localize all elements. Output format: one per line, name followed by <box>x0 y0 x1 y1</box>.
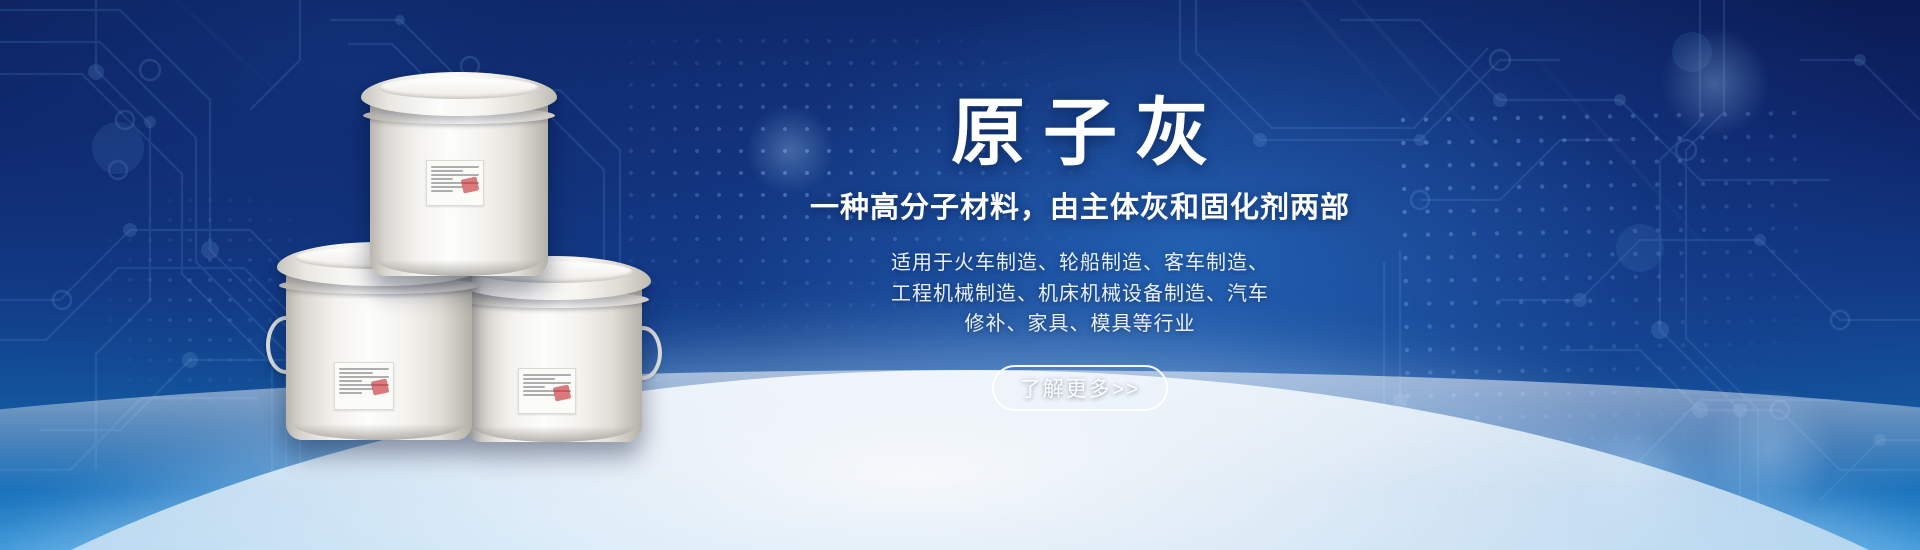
product-image-pails <box>250 60 670 460</box>
cta-container: 了解更多>> <box>700 365 1460 411</box>
light-streak <box>1492 9 1748 293</box>
description-line-3: 修补、家具、模具等行业 <box>700 309 1460 339</box>
glow-spot <box>1660 28 1770 138</box>
label-stamp <box>371 379 390 396</box>
product-label <box>334 362 394 410</box>
product-label <box>426 160 484 206</box>
pail-bottom-left <box>286 268 472 440</box>
banner-subheadline: 一种高分子材料，由主体灰和固化剂两部 <box>700 190 1460 226</box>
banner-copy-block: 原子灰 一种高分子材料，由主体灰和固化剂两部 适用于火车制造、轮船制造、客车制造… <box>700 96 1460 411</box>
promo-banner: 原子灰 一种高分子材料，由主体灰和固化剂两部 适用于火车制造、轮船制造、客车制造… <box>0 0 1920 550</box>
pail-top <box>370 98 548 276</box>
label-stamp <box>553 384 572 401</box>
product-label <box>518 368 576 414</box>
banner-headline: 原子灰 <box>700 96 1460 170</box>
pail-lid <box>361 72 557 116</box>
pail-bottom-right <box>466 282 642 442</box>
description-line-2: 工程机械制造、机床机械设备制造、汽车 <box>700 279 1460 309</box>
description-line-1: 适用于火车制造、轮船制造、客车制造、 <box>700 248 1460 278</box>
learn-more-button[interactable]: 了解更多>> <box>992 365 1169 411</box>
label-stamp <box>461 176 480 193</box>
banner-description: 适用于火车制造、轮船制造、客车制造、 工程机械制造、机床机械设备制造、汽车 修补… <box>700 248 1460 339</box>
